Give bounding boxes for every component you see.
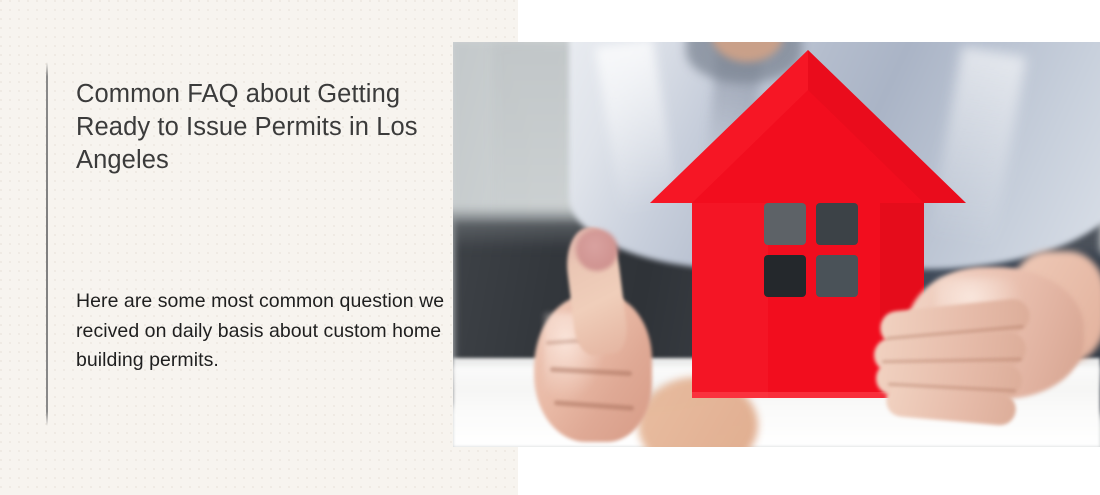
house-light-shading xyxy=(692,203,768,398)
window-pane xyxy=(816,255,858,297)
window-pane xyxy=(816,203,858,245)
vertical-accent-rule xyxy=(46,62,48,426)
holding-hand xyxy=(878,257,1093,447)
text-block: Common FAQ about Getting Ready to Issue … xyxy=(76,78,448,177)
window-pane xyxy=(764,255,806,297)
left-content-panel xyxy=(0,0,518,495)
hero-photo xyxy=(453,42,1100,447)
intro-paragraph: Here are some most common question we re… xyxy=(76,287,448,376)
page-title: Common FAQ about Getting Ready to Issue … xyxy=(76,78,448,177)
window-pane xyxy=(764,203,806,245)
